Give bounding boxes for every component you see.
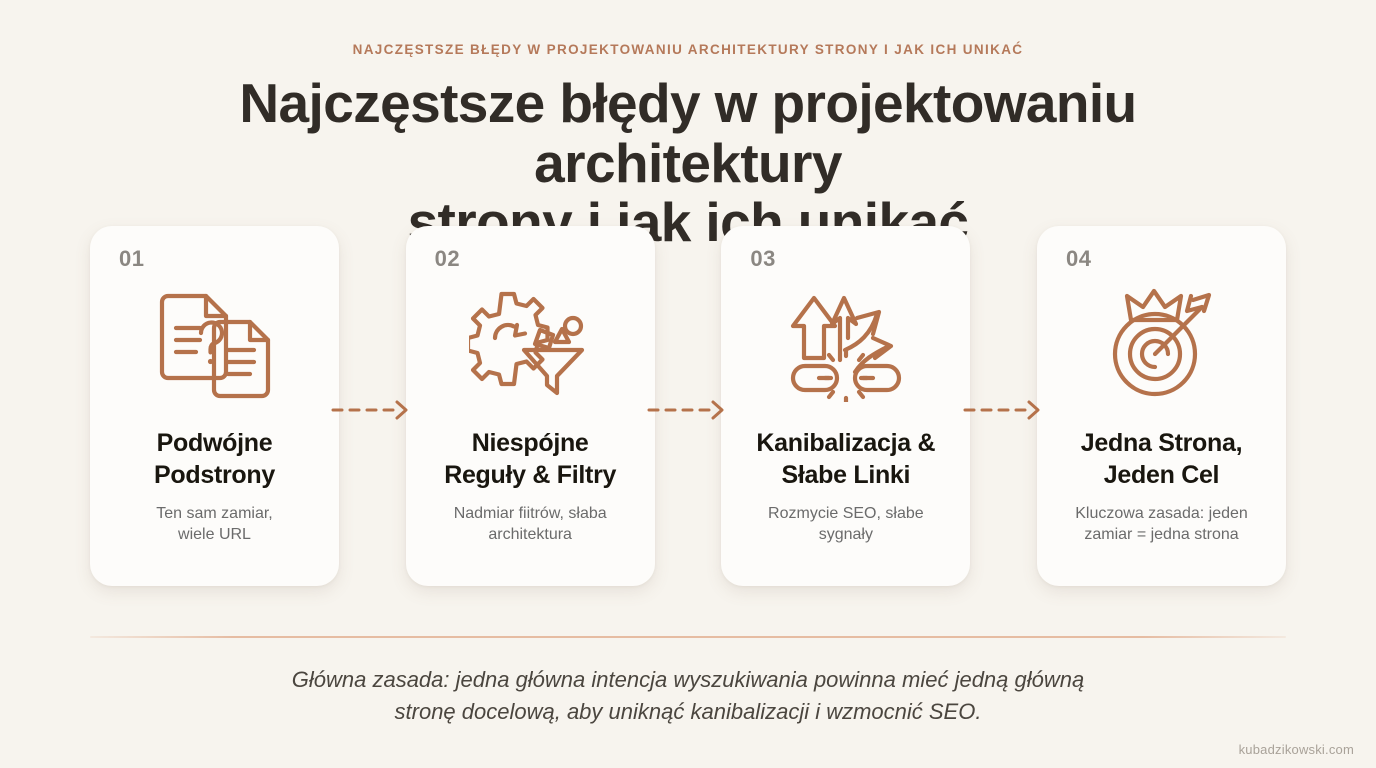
card-title-line-2: Jeden Cel <box>1104 461 1219 489</box>
page-title-line-1: Najczęstsze błędy w projektowaniu archit… <box>239 72 1136 193</box>
crowned-target-arrow-icon <box>1099 286 1225 404</box>
card-title: Jedna Strona, Jeden Cel <box>1081 428 1242 491</box>
card-title-line-1: Kanibalizacja & <box>756 429 935 457</box>
card-title-line-1: Jedna Strona, <box>1081 429 1242 457</box>
dashed-arrow-right-icon <box>963 399 1045 421</box>
connector-3 <box>970 226 1037 586</box>
connector-1 <box>339 226 406 586</box>
card-title: Niespójne Reguły & Filtry <box>444 428 616 491</box>
card-title-line-2: Podstrony <box>154 461 275 489</box>
page-header: NAJCZĘSTSZE BŁĘDY W PROJEKTOWANIU ARCHIT… <box>0 0 1376 252</box>
card-title-line-2: Słabe Linki <box>782 461 911 489</box>
footer-divider <box>90 636 1286 638</box>
cards-row: 01 Podwójne Podstrony Ten sam zamiar, wi… <box>90 226 1286 586</box>
dashed-arrow-right-icon <box>331 399 413 421</box>
card-subtitle: Ten sam zamiar, wiele URL <box>156 503 272 546</box>
card-subtitle-line-2: architektura <box>488 526 572 543</box>
duplicate-documents-question-icon <box>152 286 278 404</box>
card-subtitle-line-1: Ten sam zamiar, <box>156 505 272 522</box>
card-number: 04 <box>1066 248 1091 270</box>
card-subtitle-line-2: sygnały <box>819 526 873 543</box>
eyebrow-text: NAJCZĘSTSZE BŁĘDY W PROJEKTOWANIU ARCHIT… <box>0 42 1376 58</box>
card-number: 03 <box>750 248 775 270</box>
card-number: 01 <box>119 248 144 270</box>
card-subtitle-line-2: zamiar = jedna strona <box>1084 526 1238 543</box>
card-03[interactable]: 03 Kanibalizacja & Słabe Linki Rozmycie … <box>721 226 970 586</box>
card-subtitle-line-1: Nadmiar fiitrów, słaba <box>454 505 607 522</box>
gear-funnel-filter-icon <box>467 286 593 404</box>
card-number: 02 <box>435 248 460 270</box>
footer-note-line-1: Główna zasada: jedna główna intencja wys… <box>0 664 1376 696</box>
dashed-arrow-right-icon <box>647 399 729 421</box>
card-title-line-2: Reguły & Filtry <box>444 461 616 489</box>
card-title-line-1: Podwójne <box>157 429 273 457</box>
card-title: Podwójne Podstrony <box>154 428 275 491</box>
diverging-arrows-broken-chain-icon <box>783 286 909 404</box>
card-subtitle-line-1: Kluczowa zasada: jeden <box>1075 505 1248 522</box>
footer-note: Główna zasada: jedna główna intencja wys… <box>0 664 1376 727</box>
card-subtitle: Rozmycie SEO, słabe sygnały <box>768 503 924 546</box>
card-title: Kanibalizacja & Słabe Linki <box>756 428 935 491</box>
card-subtitle: Kluczowa zasada: jeden zamiar = jedna st… <box>1075 503 1248 546</box>
card-subtitle-line-2: wiele URL <box>178 526 251 543</box>
card-04[interactable]: 04 Jedna Strona, Jeden Cel Kluczowa zasa… <box>1037 226 1286 586</box>
card-subtitle: Nadmiar fiitrów, słaba architektura <box>454 503 607 546</box>
connector-2 <box>655 226 722 586</box>
watermark: kubadzikowski.com <box>1239 742 1354 757</box>
card-02[interactable]: 02 Niespójne Reguły & Filtry Nadmiar fii… <box>406 226 655 586</box>
footer-note-line-2: stronę docelową, aby uniknąć kanibalizac… <box>0 696 1376 728</box>
card-title-line-1: Niespójne <box>472 429 589 457</box>
card-01[interactable]: 01 Podwójne Podstrony Ten sam zamiar, wi… <box>90 226 339 586</box>
card-subtitle-line-1: Rozmycie SEO, słabe <box>768 505 924 522</box>
